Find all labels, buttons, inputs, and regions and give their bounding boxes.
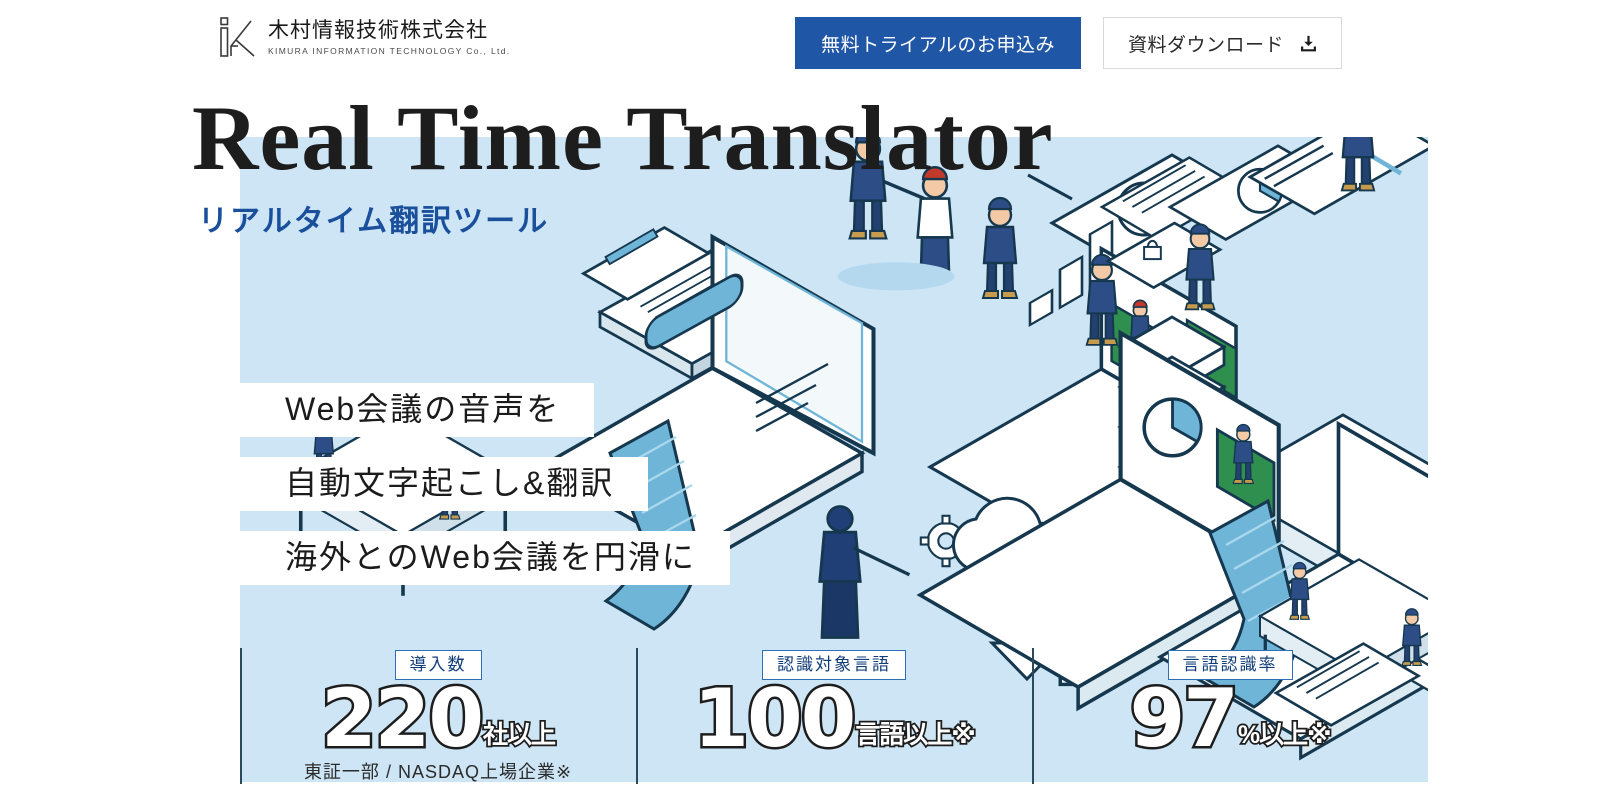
- stat-value-row-adoption: 220 社以上: [321, 682, 555, 756]
- stat-value-row-languages: 100 言語以上※: [693, 682, 974, 756]
- tagline-2: 自動文字起こし&翻訳: [240, 457, 648, 511]
- stat-item-adoption: 導入数 220 社以上 東証一部 / NASDAQ上場企業※: [240, 644, 636, 782]
- free-trial-label: 無料トライアルのお申込み: [821, 30, 1055, 57]
- company-name-jp: 木村情報技術株式会社: [268, 19, 511, 43]
- download-materials-button[interactable]: 資料ダウンロード: [1103, 17, 1342, 69]
- free-trial-button[interactable]: 無料トライアルのお申込み: [795, 17, 1081, 69]
- tagline-1: Web会議の音声を: [240, 383, 594, 437]
- stat-unit-adoption: 社以上: [483, 723, 555, 756]
- kimura-k-mark-icon: [218, 16, 258, 60]
- page-subtitle: リアルタイム翻訳ツール: [198, 196, 549, 240]
- logo-text-block: 木村情報技術株式会社 KIMURA INFORMATION TECHNOLOGY…: [268, 19, 511, 56]
- tagline-3: 海外とのWeb会議を円滑に: [240, 531, 730, 585]
- stat-number-languages: 100: [693, 682, 854, 756]
- stat-item-languages: 認識対象言語 100 言語以上※: [636, 644, 1032, 782]
- stat-number-accuracy: 97: [1130, 682, 1237, 756]
- company-name-en: KIMURA INFORMATION TECHNOLOGY Co., Ltd.: [268, 46, 511, 56]
- company-logo[interactable]: 木村情報技術株式会社 KIMURA INFORMATION TECHNOLOGY…: [218, 16, 511, 60]
- header-actions: 無料トライアルのお申込み 資料ダウンロード: [795, 17, 1342, 69]
- stat-note-adoption: 東証一部 / NASDAQ上場企業※: [304, 758, 572, 784]
- stat-number-adoption: 220: [321, 682, 482, 756]
- tagline-group: Web会議の音声を 自動文字起こし&翻訳 海外とのWeb会議を円滑に: [240, 383, 730, 585]
- stat-unit-accuracy: %以上※: [1238, 723, 1331, 756]
- download-icon: [1300, 35, 1317, 52]
- stats-bar: 導入数 220 社以上 東証一部 / NASDAQ上場企業※ 認識対象言語 10…: [240, 644, 1428, 782]
- stat-unit-languages: 言語以上※: [855, 723, 974, 756]
- site-header: 木村情報技術株式会社 KIMURA INFORMATION TECHNOLOGY…: [0, 0, 1600, 86]
- stat-item-accuracy: 言語認識率 97 %以上※: [1032, 644, 1428, 782]
- landing-page: 木村情報技術株式会社 KIMURA INFORMATION TECHNOLOGY…: [0, 0, 1600, 800]
- stat-value-row-accuracy: 97 %以上※: [1130, 682, 1331, 756]
- page-title: Real Time Translator: [192, 92, 1054, 184]
- download-materials-label: 資料ダウンロード: [1128, 30, 1284, 57]
